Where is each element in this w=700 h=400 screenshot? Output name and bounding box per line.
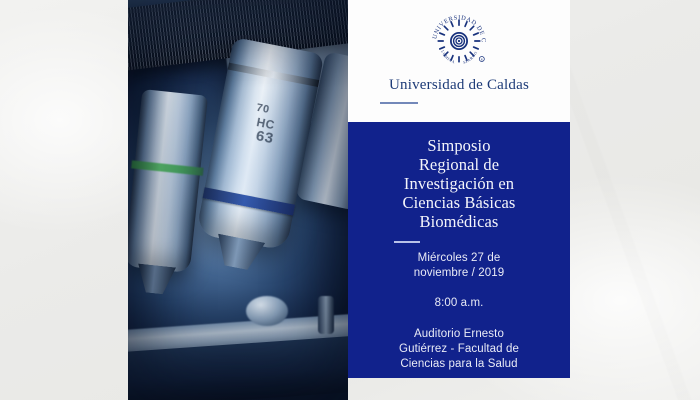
header-divider	[380, 102, 418, 104]
universidad-de-caldas-seal-icon: UNIVERSIDAD DE CALDAS LUMINA SPARGO	[429, 11, 489, 71]
event-date: Miércoles 27 de noviembre / 2019	[360, 251, 558, 281]
event-date-line-1: Miércoles 27 de	[360, 251, 558, 266]
event-time: 8:00 a.m.	[360, 296, 558, 311]
event-venue-line-3: Ciencias para la Salud	[360, 357, 558, 372]
event-info-panel: Simposio Regional de Investigación en Ci…	[348, 122, 570, 378]
event-title-line-3: Investigación en	[360, 174, 558, 193]
event-title-line-1: Simposio	[360, 136, 558, 155]
event-venue-line-2: Gutiérrez - Facultad de	[360, 342, 558, 357]
svg-text:R: R	[481, 58, 483, 62]
institution-name: Universidad de Caldas	[389, 77, 529, 94]
event-title-line-4: Ciencias Básicas	[360, 193, 558, 212]
event-venue-line-1: Auditorio Ernesto	[360, 327, 558, 342]
header-card: UNIVERSIDAD DE CALDAS LUMINA SPARGO	[348, 0, 570, 122]
microscope-photo: 70 HC 63	[128, 0, 348, 400]
event-title-line-2: Regional de	[360, 155, 558, 174]
event-venue: Auditorio Ernesto Gutiérrez - Facultad d…	[360, 327, 558, 372]
event-title-line-5: Biomédicas	[360, 212, 558, 231]
event-title: Simposio Regional de Investigación en Ci…	[360, 136, 558, 231]
title-divider	[394, 241, 420, 243]
photo-vignette	[128, 0, 348, 400]
event-date-line-2: noviembre / 2019	[360, 266, 558, 281]
